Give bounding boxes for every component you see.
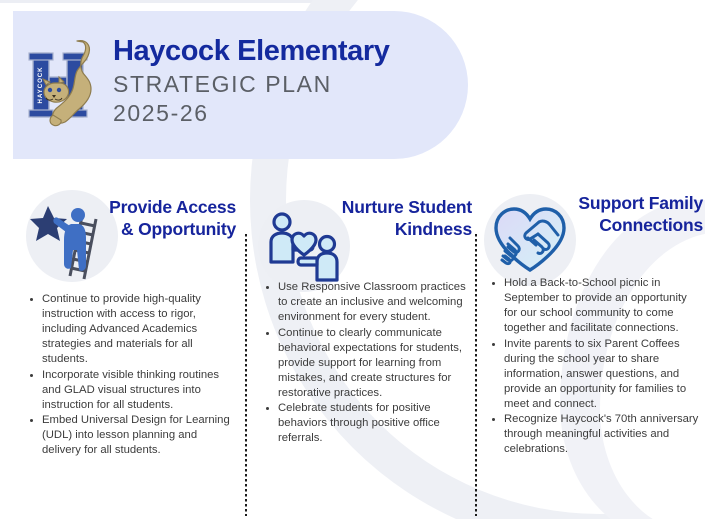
goal-column-nurture-kindness: Nurture Student Kindness Use Responsive … bbox=[240, 186, 476, 519]
goal-bullets-3: Hold a Back-to-School picnic in Septembe… bbox=[482, 276, 705, 457]
goal-title-2: Nurture Student Kindness bbox=[342, 196, 472, 241]
header-title-block: Haycock Elementary STRATEGIC PLAN 2025-2… bbox=[113, 36, 390, 134]
goal-title-3-line2: Connections bbox=[578, 214, 703, 236]
list-item: Continue to provide high-quality instruc… bbox=[42, 292, 236, 367]
list-item: Recognize Haycock's 70th anniversary thr… bbox=[504, 412, 701, 457]
goals-container: Provide Access & Opportunity Continue to… bbox=[0, 186, 705, 519]
goal-bullets-2: Use Responsive Classroom practices to cr… bbox=[252, 280, 476, 446]
handshake-heart-icon bbox=[484, 194, 576, 286]
goal-title-1-line2: & Opportunity bbox=[109, 218, 236, 240]
kindness-svg bbox=[258, 200, 350, 292]
goal-title-2-line2: Kindness bbox=[342, 218, 472, 240]
list-item: Invite parents to six Parent Coffees dur… bbox=[504, 337, 701, 412]
list-item: Incorporate visible thinking routines an… bbox=[42, 368, 236, 413]
plan-subtitle: STRATEGIC PLAN bbox=[113, 70, 390, 98]
goal-title-2-line1: Nurture Student bbox=[342, 196, 472, 218]
plan-year: 2025-26 bbox=[113, 100, 390, 128]
goal-title-3: Support Family Connections bbox=[578, 192, 703, 237]
goal-header-2: Nurture Student Kindness bbox=[252, 186, 476, 286]
header-banner: HAYCOCK Haycock Elementary STRATE bbox=[13, 11, 468, 159]
list-item: Use Responsive Classroom practices to cr… bbox=[278, 280, 470, 325]
goal-title-1: Provide Access & Opportunity bbox=[109, 196, 236, 241]
goal-header-1: Provide Access & Opportunity bbox=[14, 186, 240, 286]
list-item: Celebrate students for positive behavior… bbox=[278, 401, 470, 446]
two-people-sharing-heart-icon bbox=[258, 200, 350, 292]
top-edge-strip bbox=[0, 0, 705, 3]
goal-column-support-family: Support Family Connections Hold a Back-t… bbox=[476, 186, 705, 519]
list-item: Continue to clearly communicate behavior… bbox=[278, 326, 470, 401]
ladder-star-svg bbox=[26, 190, 118, 282]
strategic-plan-page: HAYCOCK Haycock Elementary STRATE bbox=[0, 0, 705, 519]
haycock-school-logo: HAYCOCK bbox=[25, 31, 103, 139]
goal-bullets-1: Continue to provide high-quality instruc… bbox=[14, 292, 240, 458]
goal-title-3-line1: Support Family bbox=[578, 192, 703, 214]
list-item: Embed Universal Design for Learning (UDL… bbox=[42, 413, 236, 458]
column-divider-1 bbox=[245, 234, 247, 516]
goal-column-provide-access: Provide Access & Opportunity Continue to… bbox=[0, 186, 240, 519]
list-item: Hold a Back-to-School picnic in Septembe… bbox=[504, 276, 701, 336]
logo-svg: HAYCOCK bbox=[25, 31, 103, 139]
column-divider-2 bbox=[475, 234, 477, 516]
page-title: Haycock Elementary bbox=[113, 36, 390, 66]
person-climbing-ladder-to-star-icon bbox=[26, 190, 118, 282]
goal-header-3: Support Family Connections bbox=[482, 186, 705, 286]
goal-title-1-line1: Provide Access bbox=[109, 196, 236, 218]
logo-wordmark: HAYCOCK bbox=[37, 66, 44, 103]
handshake-heart-svg bbox=[484, 194, 576, 286]
